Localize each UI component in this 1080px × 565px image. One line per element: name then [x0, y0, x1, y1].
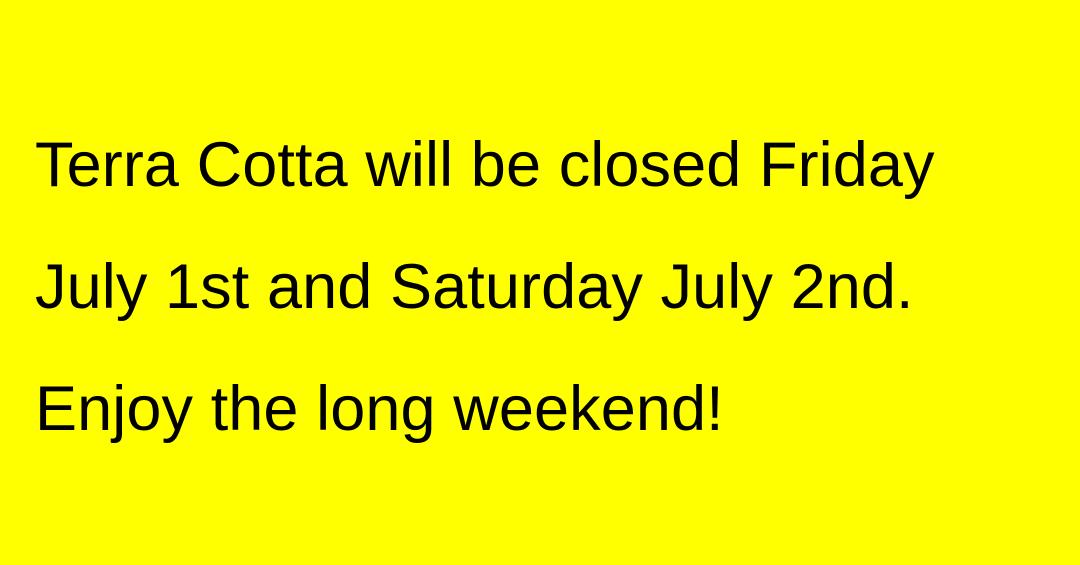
notice-line-1: Terra Cotta will be closed Friday	[35, 104, 1045, 226]
notice-line-2: July 1st and Saturday July 2nd.	[35, 226, 1045, 348]
closure-notice-text-block: Terra Cotta will be closed Friday July 1…	[35, 104, 1045, 470]
notice-line-3: Enjoy the long weekend!	[35, 348, 1045, 470]
closure-notice-canvas: Terra Cotta will be closed Friday July 1…	[0, 0, 1080, 565]
